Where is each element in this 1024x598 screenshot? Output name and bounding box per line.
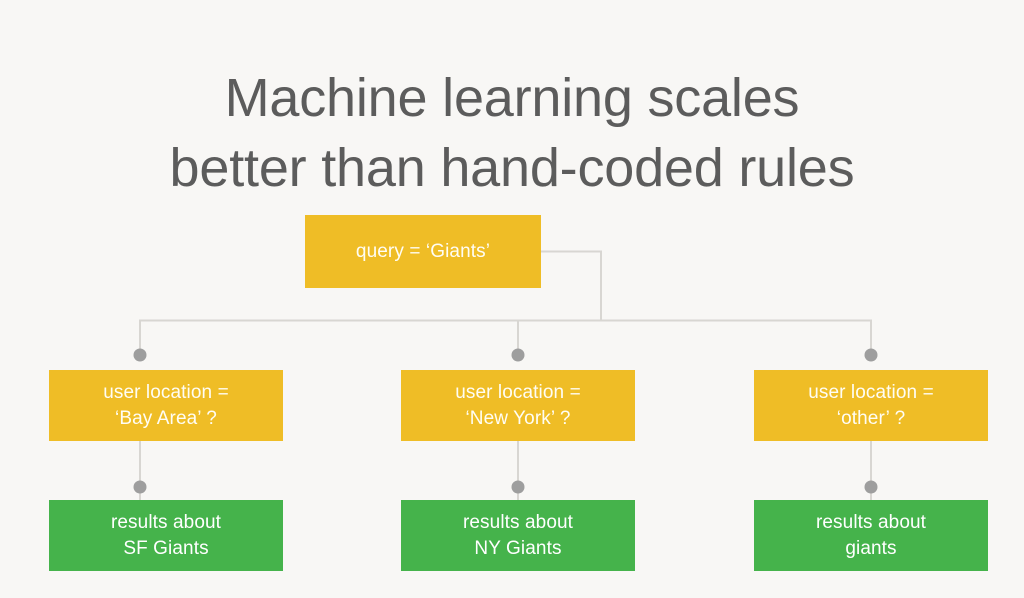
connector-dot-result-ny <box>512 481 525 494</box>
node-result-other-line-2: giants <box>760 536 982 562</box>
node-decision-other-line-1: user location = <box>760 380 982 406</box>
edge-root-to-bus <box>541 252 601 321</box>
node-result-ny-line-1: results about <box>407 510 629 536</box>
node-decision-ny-line-2: ‘New York’ ? <box>407 406 629 432</box>
decision-tree-diagram: query = ‘Giants’ user location = ‘Bay Ar… <box>0 0 1024 598</box>
connector-dot-result-sf <box>134 481 147 494</box>
node-result-sf-line-2: SF Giants <box>55 536 277 562</box>
node-result-sf-giants[interactable]: results about SF Giants <box>49 500 283 571</box>
node-result-giants[interactable]: results about giants <box>754 500 988 571</box>
node-result-ny-giants[interactable]: results about NY Giants <box>401 500 635 571</box>
connector-dot-result-other <box>865 481 878 494</box>
node-decision-bay-line-1: user location = <box>55 380 277 406</box>
node-decision-other[interactable]: user location = ‘other’ ? <box>754 370 988 441</box>
connector-dot-decision-bay <box>134 349 147 362</box>
connector-dot-decision-other <box>865 349 878 362</box>
node-root-query[interactable]: query = ‘Giants’ <box>305 215 541 288</box>
node-decision-ny-line-1: user location = <box>407 380 629 406</box>
slide-canvas: Machine learning scales better than hand… <box>0 0 1024 598</box>
node-result-other-line-1: results about <box>760 510 982 536</box>
node-decision-bay-area[interactable]: user location = ‘Bay Area’ ? <box>49 370 283 441</box>
node-decision-new-york[interactable]: user location = ‘New York’ ? <box>401 370 635 441</box>
connector-dot-decision-ny <box>512 349 525 362</box>
node-result-ny-line-2: NY Giants <box>407 536 629 562</box>
node-root-line-1: query = ‘Giants’ <box>311 239 535 265</box>
node-result-sf-line-1: results about <box>55 510 277 536</box>
node-decision-bay-line-2: ‘Bay Area’ ? <box>55 406 277 432</box>
node-decision-other-line-2: ‘other’ ? <box>760 406 982 432</box>
